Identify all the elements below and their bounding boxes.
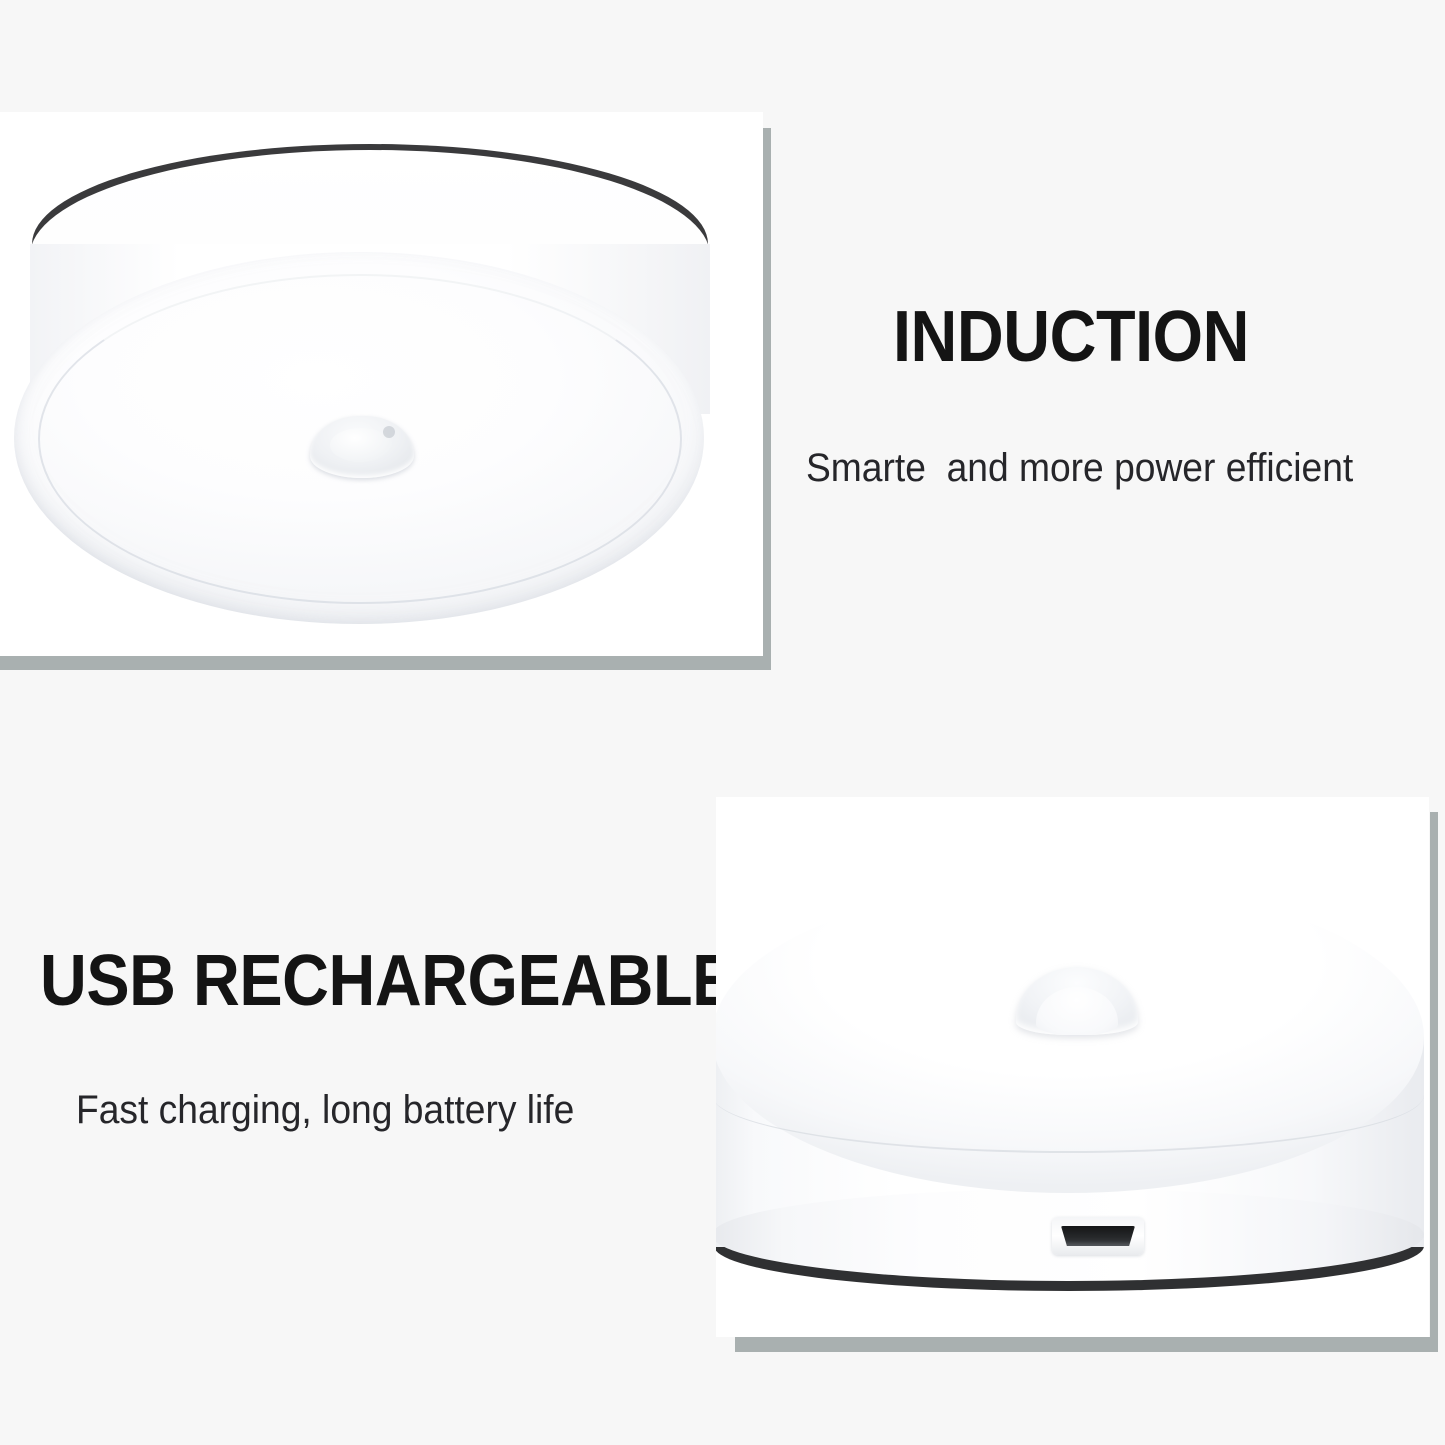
feature-photo-induction <box>0 112 763 656</box>
feature-photo-usb-rechargeable <box>716 797 1429 1337</box>
product-feature-collage: INDUCTION Smarte and more power efficien… <box>0 0 1445 1445</box>
photo-canvas-usb-rechargeable <box>716 797 1429 1337</box>
product-puck-light-usb <box>716 859 1429 1311</box>
product-puck-light-angled <box>0 134 740 634</box>
pir-sensor-highlight <box>383 426 395 438</box>
micro-usb-slot <box>1061 1226 1135 1246</box>
photo-frame-rail-bottom-top-left <box>0 655 771 670</box>
feature-subline-usb-rechargeable: Fast charging, long battery life <box>76 1088 574 1133</box>
product-body-seam <box>716 1037 1424 1153</box>
feature-headline-usb-rechargeable: USB RECHARGEABLE <box>40 940 735 1022</box>
photo-frame-rail-right-top-left <box>763 128 771 670</box>
photo-frame-rail-bottom-bottom-right <box>735 1337 1438 1352</box>
feature-headline-induction: INDUCTION <box>893 296 1249 378</box>
feature-subline-induction: Smarte and more power efficient <box>806 446 1353 491</box>
micro-usb-port <box>1052 1217 1144 1255</box>
photo-canvas-induction <box>0 112 763 656</box>
photo-frame-rail-right-bottom-right <box>1430 812 1438 1350</box>
